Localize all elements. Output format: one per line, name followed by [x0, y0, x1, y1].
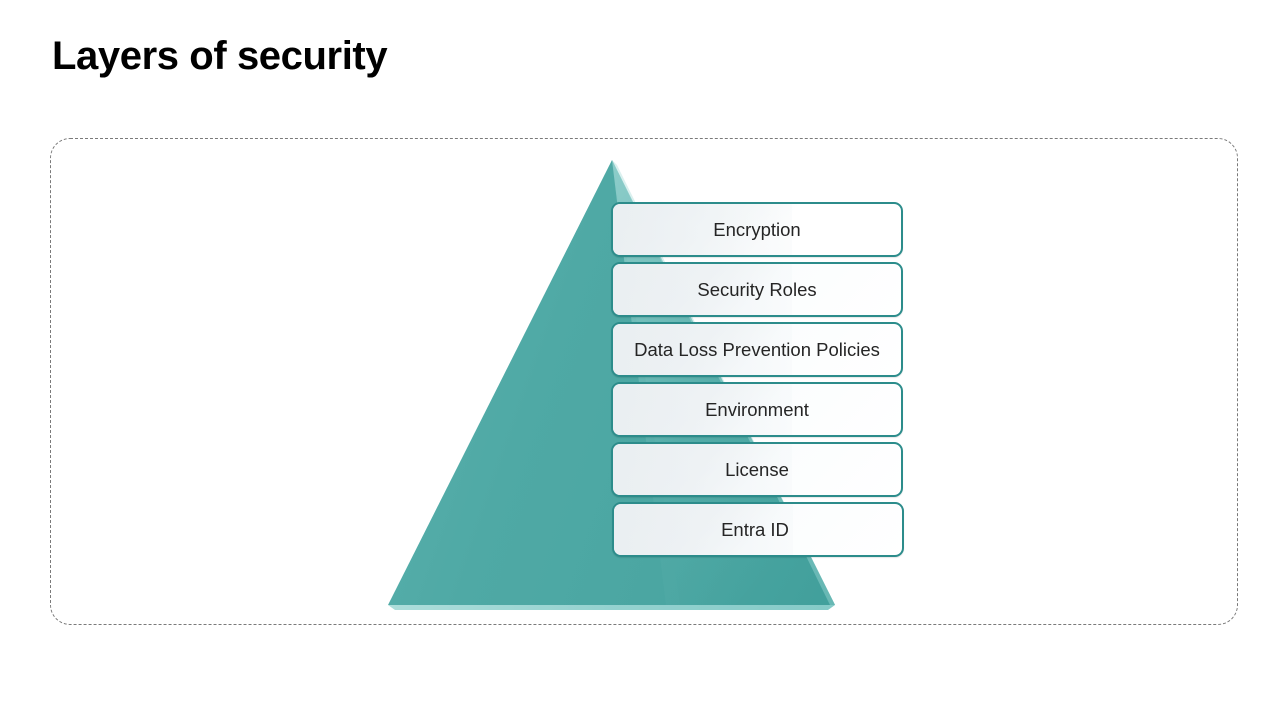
layer-box-encryption[interactable]: Encryption [611, 202, 903, 257]
layer-box-security-roles[interactable]: Security Roles [611, 262, 903, 317]
layer-label: Encryption [713, 219, 800, 241]
layer-label: Environment [705, 399, 809, 421]
layer-box-environment[interactable]: Environment [611, 382, 903, 437]
page-title: Layers of security [52, 30, 952, 82]
layer-label: Data Loss Prevention Policies [634, 339, 880, 361]
layer-box-data-loss-prevention-policies[interactable]: Data Loss Prevention Policies [611, 322, 903, 377]
layer-box-entra-id[interactable]: Entra ID [612, 502, 904, 557]
layer-label: Security Roles [697, 279, 816, 301]
layer-label: License [725, 459, 789, 481]
layer-box-license[interactable]: License [611, 442, 903, 497]
layer-label-stack: Encryption Security Roles Data Loss Prev… [611, 202, 903, 557]
slide-canvas: Layers of security [0, 0, 1280, 720]
layer-label: Entra ID [721, 519, 789, 541]
